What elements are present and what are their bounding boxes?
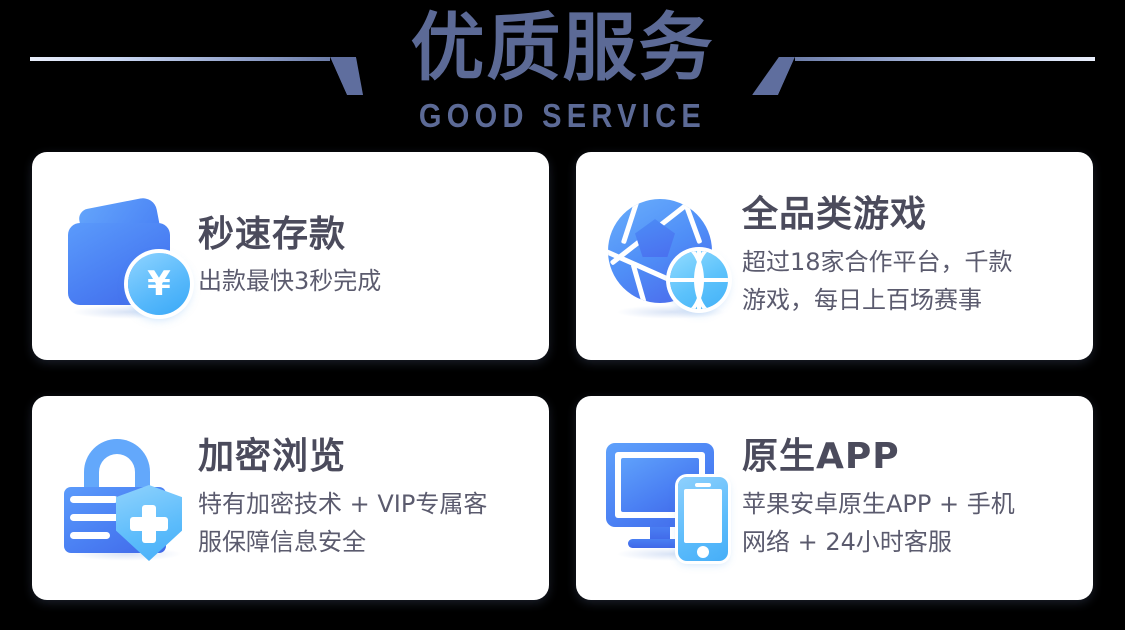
feature-card-all-games[interactable]: 全品类游戏 超过18家合作平台，千款游戏，每日上百场赛事 (576, 152, 1093, 360)
feature-card-encrypted-browsing[interactable]: 加密浏览 特有加密技术 + VIP专属客服保障信息安全 (32, 396, 549, 600)
phone-screen (684, 489, 722, 543)
basketball (670, 251, 728, 309)
card-text: 原生APP 苹果安卓原生APP + 手机网络 + 24小时客服 (742, 435, 1075, 561)
card-subtitle: 超过18家合作平台，千款游戏，每日上百场赛事 (742, 243, 1075, 319)
card-text: 加密浏览 特有加密技术 + VIP专属客服保障信息安全 (198, 435, 531, 561)
lock-slot (70, 496, 118, 503)
card-title: 秒速存款 (198, 213, 531, 257)
card-subtitle: 特有加密技术 + VIP专属客服保障信息安全 (198, 485, 531, 561)
basketball-arc (694, 251, 728, 309)
card-subtitle: 出款最快3秒完成 (198, 263, 531, 299)
card-title: 加密浏览 (198, 435, 531, 479)
card-text: 全品类游戏 超过18家合作平台，千款游戏，每日上百场赛事 (742, 193, 1075, 319)
card-text: 秒速存款 出款最快3秒完成 (198, 213, 531, 299)
phone-home-button (697, 546, 709, 558)
card-subtitle: 苹果安卓原生APP + 手机网络 + 24小时客服 (742, 485, 1075, 561)
feature-card-native-app[interactable]: 原生APP 苹果安卓原生APP + 手机网络 + 24小时客服 (576, 396, 1093, 600)
plus-cross-icon (130, 517, 168, 531)
lock-slot (70, 532, 110, 539)
feature-card-instant-deposit[interactable]: ¥ 秒速存款 出款最快3秒完成 (32, 152, 549, 360)
phone-speaker (695, 483, 711, 487)
wallet-yen-icon: ¥ (58, 191, 190, 321)
soccer-basketball-icon (602, 191, 734, 321)
page-title: 优质服务 (0, 2, 1125, 94)
lock-shield-icon (58, 433, 190, 563)
feature-card-grid: ¥ 秒速存款 出款最快3秒完成 (32, 152, 1093, 600)
card-title: 全品类游戏 (742, 193, 1075, 237)
yen-symbol: ¥ (128, 253, 190, 315)
page-header: 优质服务 GOOD SERVICE (0, 0, 1125, 145)
card-title: 原生APP (742, 435, 1075, 479)
page-subtitle: GOOD SERVICE (68, 97, 1058, 135)
monitor-phone-icon (602, 433, 734, 563)
